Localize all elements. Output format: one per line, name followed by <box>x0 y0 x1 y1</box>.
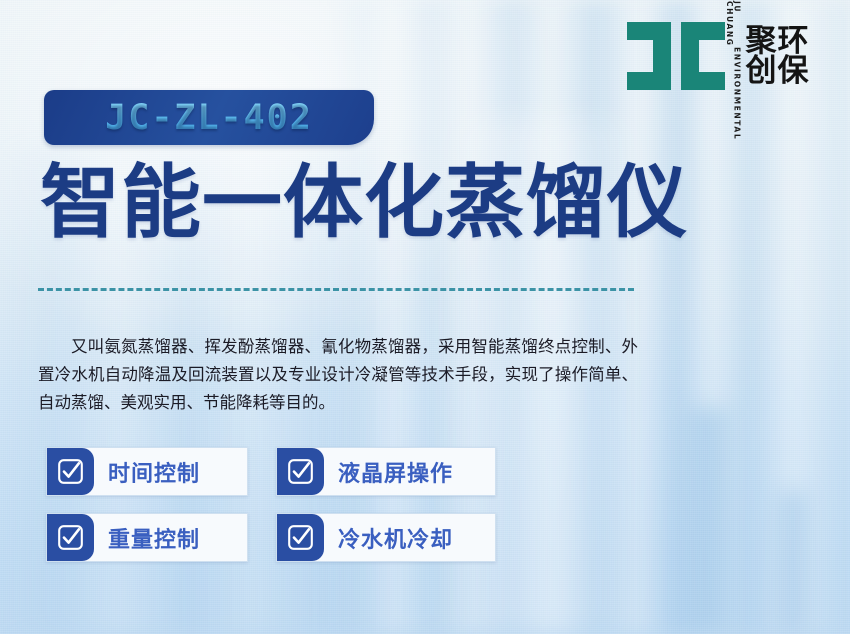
logo-chinese-name: 聚环 创保 <box>746 19 810 93</box>
logo-pinyin-line-2: ENVIRONMENTAL <box>733 47 741 111</box>
product-description: 又叫氨氮蒸馏器、挥发酚蒸馏器、氰化物蒸馏器，采用智能蒸馏终点控制、外置冷水机自动… <box>38 333 638 417</box>
model-badge: JC-ZL-402 <box>44 90 374 145</box>
logo-pinyin-line-1: JU CHUANG <box>733 1 741 46</box>
feature-chip-time-control[interactable]: 时间控制 <box>46 447 248 496</box>
feature-chip-weight-control[interactable]: 重量控制 <box>46 513 248 562</box>
feature-chip-label: 冷水机冷却 <box>324 514 470 561</box>
logo-cn-line-2: 创保 <box>746 56 810 86</box>
feature-chip-label: 重量控制 <box>94 514 217 561</box>
page-title: 智能一体化蒸馏仪 <box>40 163 688 243</box>
logo-cn-line-1: 聚环 <box>746 26 810 56</box>
feature-row: 重量控制 冷水机冷却 <box>46 513 526 562</box>
checkbox-checked-icon <box>47 448 94 495</box>
dashed-divider <box>38 288 634 291</box>
logo-pinyin-block: JU CHUANG ENVIRONMENTAL <box>733 20 741 92</box>
feature-list: 时间控制 液晶屏操作 重 <box>46 447 526 579</box>
feature-chip-label: 液晶屏操作 <box>324 448 470 495</box>
feature-chip-chiller-cooling[interactable]: 冷水机冷却 <box>276 513 496 562</box>
feature-chip-label: 时间控制 <box>94 448 217 495</box>
feature-chip-lcd-operation[interactable]: 液晶屏操作 <box>276 447 496 496</box>
feature-row: 时间控制 液晶屏操作 <box>46 447 526 496</box>
checkbox-checked-icon <box>47 514 94 561</box>
checkbox-checked-icon <box>277 514 324 561</box>
model-number: JC-ZL-402 <box>105 98 313 138</box>
checkbox-checked-icon <box>277 448 324 495</box>
product-banner: JU CHUANG ENVIRONMENTAL 聚环 创保 JC-ZL-402 … <box>0 0 850 634</box>
company-logo: JU CHUANG ENVIRONMENTAL 聚环 创保 <box>625 18 810 94</box>
jc-monogram-icon <box>625 20 729 92</box>
